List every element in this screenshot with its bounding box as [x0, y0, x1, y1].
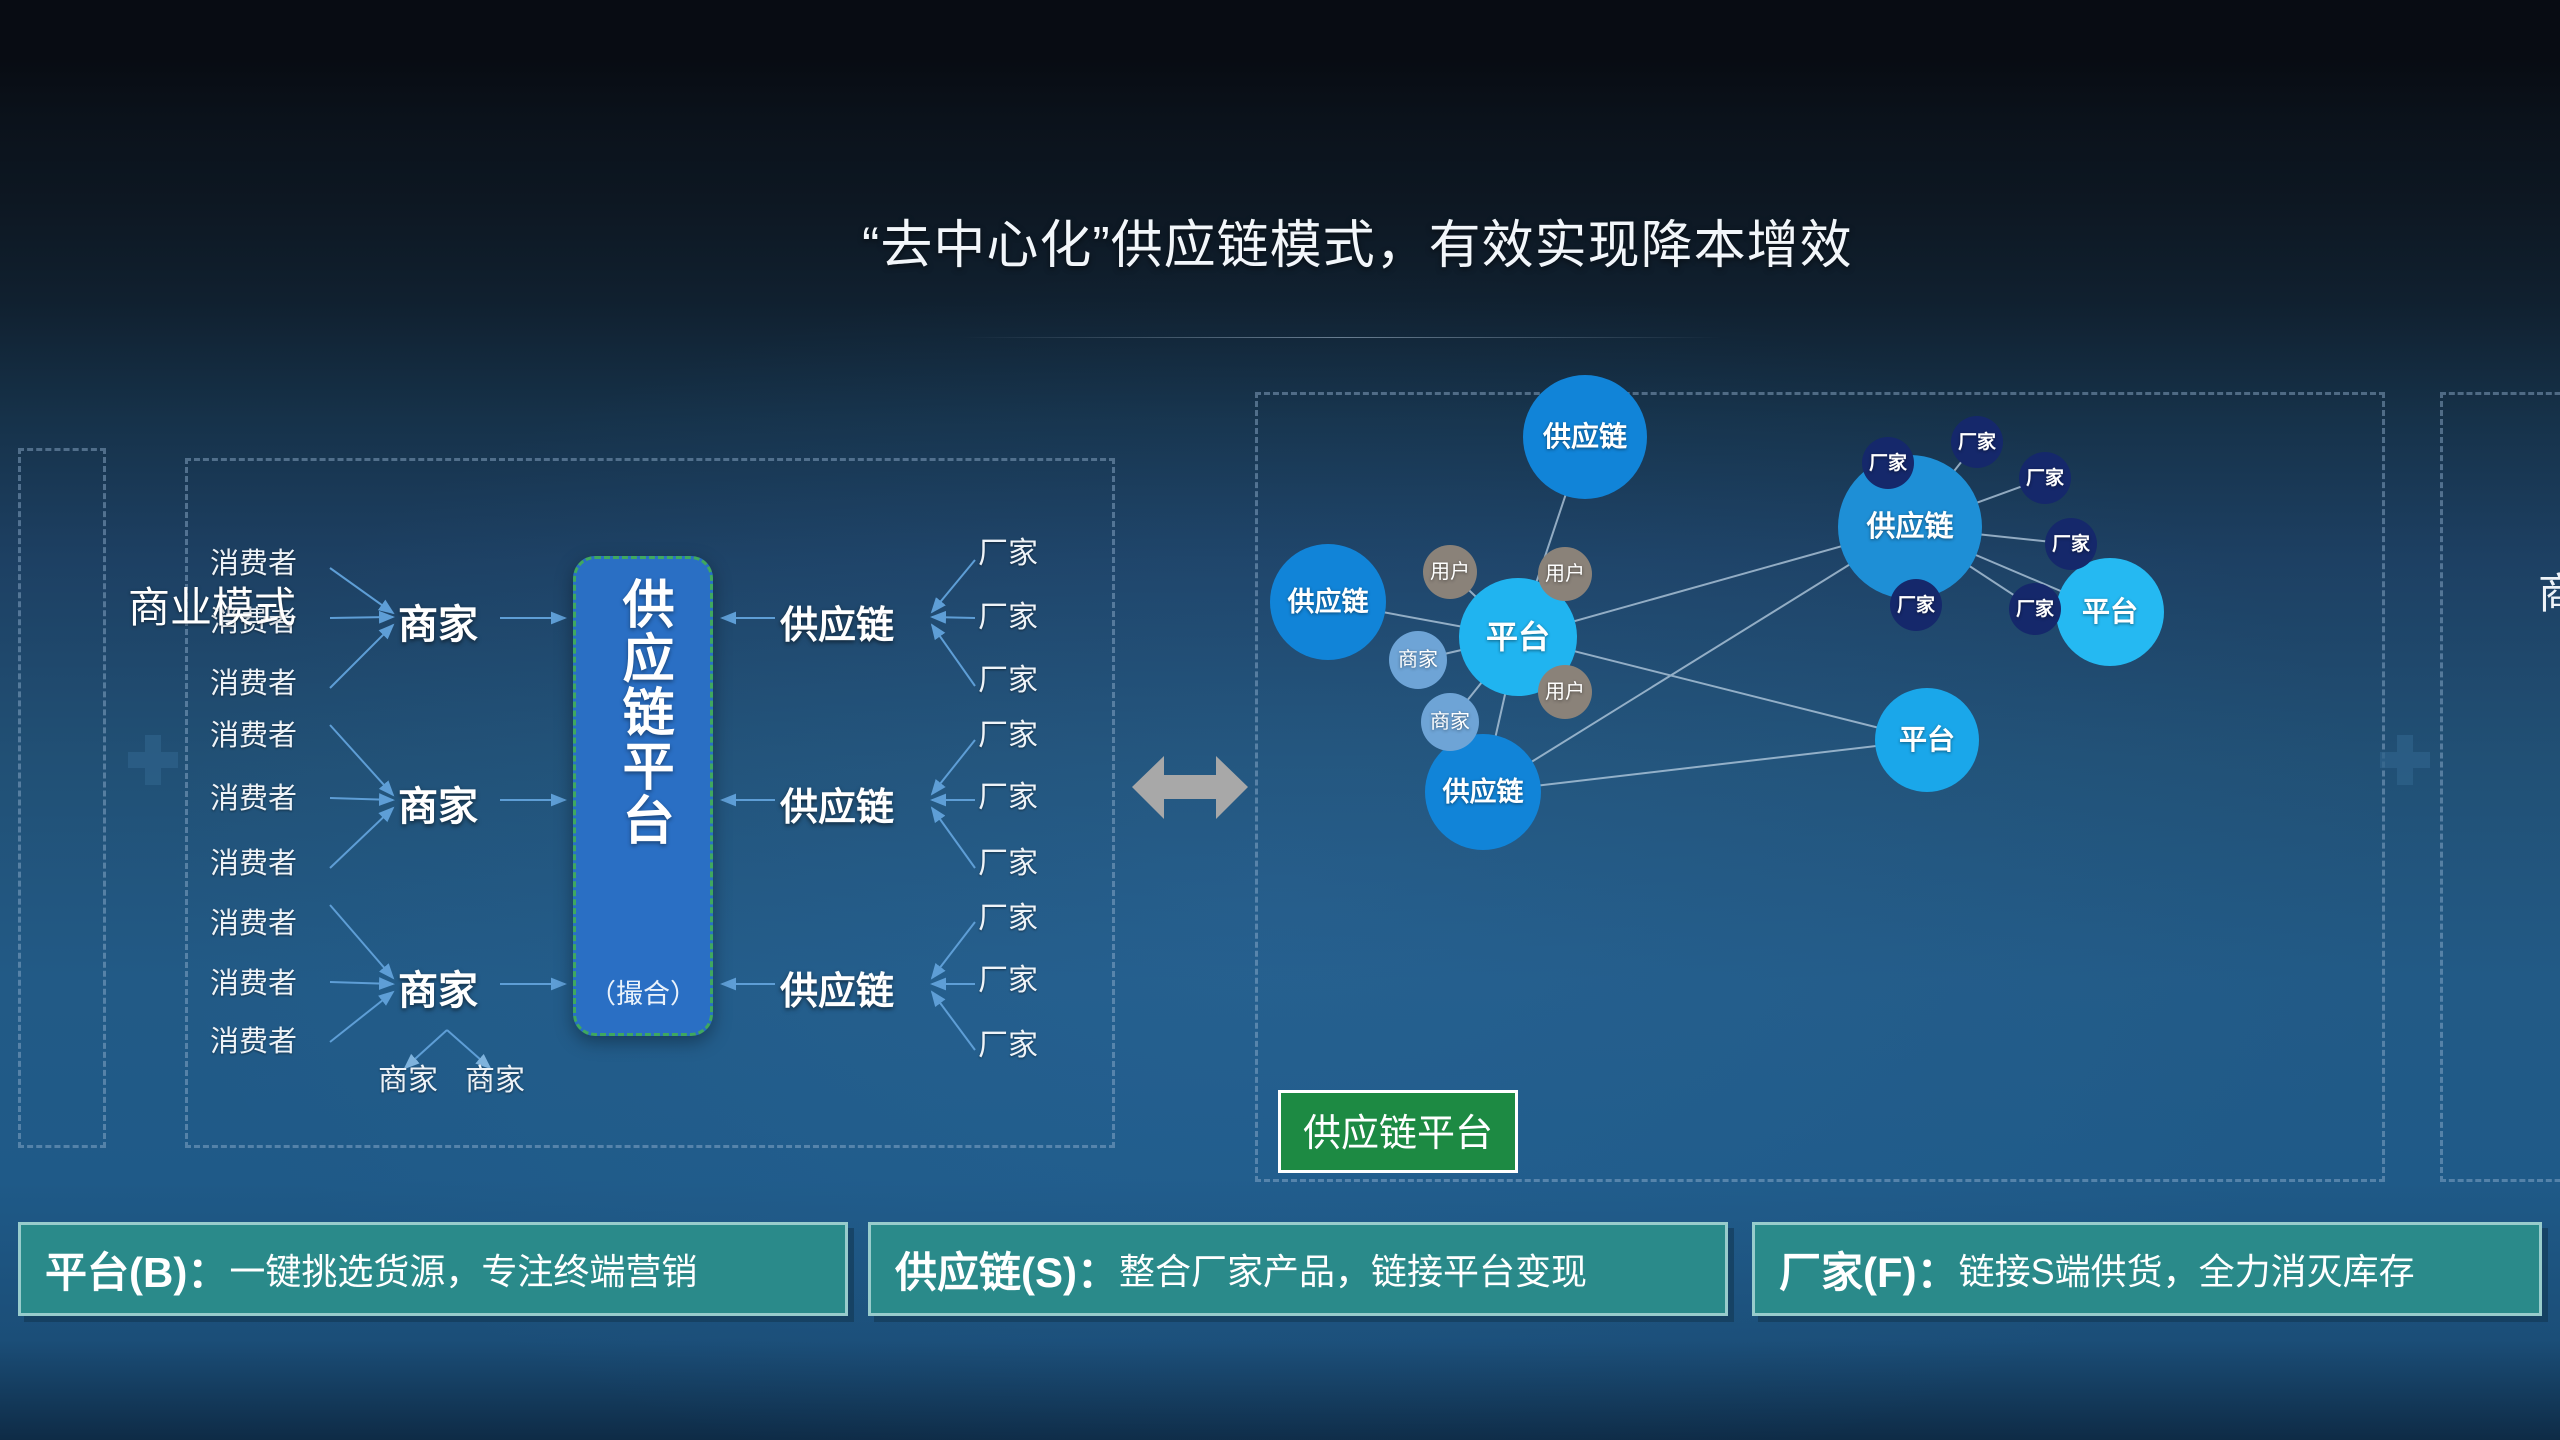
network-node-supply[interactable]: 供应链 — [1425, 734, 1541, 850]
network-node-label: 厂家 — [1869, 454, 1907, 473]
network-node-supply[interactable]: 供应链 — [1523, 375, 1647, 499]
bottom-bar-platform[interactable]: 平台(B)： 一键挑选货源，专注终端营销 — [18, 1222, 848, 1316]
supply-chain-label: 供应链 — [780, 960, 894, 1015]
network-node-user[interactable]: 用户 — [1423, 545, 1477, 599]
network-node-label: 用户 — [1545, 682, 1585, 702]
network-node-platform[interactable]: 平台 — [2056, 558, 2164, 666]
consumer-label: 消费者 — [210, 660, 297, 702]
network-node-label: 商家 — [1398, 650, 1438, 670]
network-node-factory[interactable]: 厂家 — [1862, 437, 1914, 489]
supply-chain-label: 供应链 — [780, 776, 894, 831]
bottom-bar-text: 整合厂家产品，链接平台变现 — [1119, 1243, 1587, 1295]
network-node-label: 供应链 — [1288, 589, 1369, 616]
network-node-seller[interactable]: 商家 — [1421, 693, 1479, 751]
factory-label: 厂家 — [978, 893, 1038, 937]
network-node-label: 用户 — [1430, 562, 1470, 582]
network-node-seller[interactable]: 商家 — [1389, 631, 1447, 689]
network-node-label: 供应链 — [1543, 423, 1627, 451]
supply-chain-label: 供应链 — [780, 594, 894, 649]
network-node-label: 平台 — [2082, 598, 2138, 626]
network-node-factory[interactable]: 厂家 — [2019, 452, 2071, 504]
plus-icon-right — [2380, 735, 2430, 785]
network-node-label: 商家 — [1430, 712, 1470, 732]
factory-label: 厂家 — [978, 955, 1038, 999]
network-node-user[interactable]: 用户 — [1538, 665, 1592, 719]
merchant-label: 商家 — [398, 958, 478, 1016]
network-node-label: 厂家 — [1958, 433, 1996, 452]
merchant-label-bottom: 商家 — [378, 1055, 438, 1099]
bottom-bar-supplychain[interactable]: 供应链(S)： 整合厂家产品，链接平台变现 — [868, 1222, 1728, 1316]
merchant-label: 商家 — [398, 774, 478, 832]
network-node-platform[interactable]: 平台 — [1875, 688, 1979, 792]
traditional-model-diagram: 商业模式 消费者 消费者 消费者 消费者 消费者 消费者 消费者 消费者 消费者… — [0, 0, 1130, 1200]
network-node-user[interactable]: 用户 — [1538, 547, 1592, 601]
network-node-supply[interactable]: 供应链 — [1270, 544, 1386, 660]
consumer-label: 消费者 — [210, 960, 297, 1002]
network-node-label: 厂家 — [2052, 535, 2090, 554]
consumer-label: 消费者 — [210, 840, 297, 882]
bottom-bar-title: 厂家(F)： — [1779, 1239, 1959, 1300]
network-node-factory[interactable]: 厂家 — [1951, 416, 2003, 468]
supply-chain-platform-badge: 供应链平台 — [1278, 1090, 1518, 1173]
slide-canvas: “去中心化”供应链模式，有效实现降本增效 商 — [0, 0, 2560, 1440]
cut-off-panel-label: 商 — [2538, 560, 2560, 621]
network-node-label: 平台 — [1486, 621, 1550, 653]
factory-label: 厂家 — [978, 592, 1038, 636]
merchant-label: 商家 — [398, 592, 478, 650]
network-node-label: 厂家 — [2016, 600, 2054, 619]
platform-box-title: 供应链平台 — [615, 577, 671, 847]
bottom-bar-text: 链接S端供货，全力消灭库存 — [1959, 1243, 2415, 1295]
supply-chain-platform-box[interactable]: 供应链平台 （撮合） — [573, 556, 713, 1036]
bottom-bar-text: 一键挑选货源，专注终端营销 — [229, 1243, 697, 1295]
consumer-label: 消费者 — [210, 1018, 297, 1060]
network-node-label: 供应链 — [1443, 779, 1524, 806]
factory-label: 厂家 — [978, 528, 1038, 572]
bottom-bar-factory[interactable]: 厂家(F)： 链接S端供货，全力消灭库存 — [1752, 1222, 2542, 1316]
consumer-label: 消费者 — [210, 712, 297, 754]
factory-label: 厂家 — [978, 655, 1038, 699]
network-node-label: 厂家 — [1897, 596, 1935, 615]
network-node-label: 平台 — [1899, 726, 1955, 754]
factory-label: 厂家 — [978, 710, 1038, 754]
bottom-bar-title: 供应链(S)： — [895, 1239, 1119, 1300]
consumer-label: 消费者 — [210, 775, 297, 817]
network-node-label: 厂家 — [2026, 469, 2064, 488]
network-node-factory[interactable]: 厂家 — [1890, 579, 1942, 631]
factory-label: 厂家 — [978, 1020, 1038, 1064]
network-node-label: 供应链 — [1866, 513, 1953, 542]
consumer-label: 消费者 — [210, 900, 297, 942]
double-arrow-icon — [1130, 740, 1250, 835]
factory-label: 厂家 — [978, 838, 1038, 882]
platform-box-subtitle: （撮合） — [576, 972, 710, 1011]
business-model-label: 商业模式 — [128, 574, 296, 635]
factory-label: 厂家 — [978, 772, 1038, 816]
bottom-bar-title: 平台(B)： — [45, 1239, 229, 1300]
network-node-label: 用户 — [1545, 564, 1585, 584]
decentralized-network-diagram: 供应链供应链供应链供应链平台平台平台用户用户用户商家商家厂家厂家厂家厂家厂家厂家… — [1255, 392, 2385, 1182]
network-node-factory[interactable]: 厂家 — [2045, 518, 2097, 570]
network-node-factory[interactable]: 厂家 — [2009, 583, 2061, 635]
merchant-label-bottom: 商家 — [465, 1055, 525, 1099]
dashed-panel-far-right — [2440, 392, 2560, 1182]
